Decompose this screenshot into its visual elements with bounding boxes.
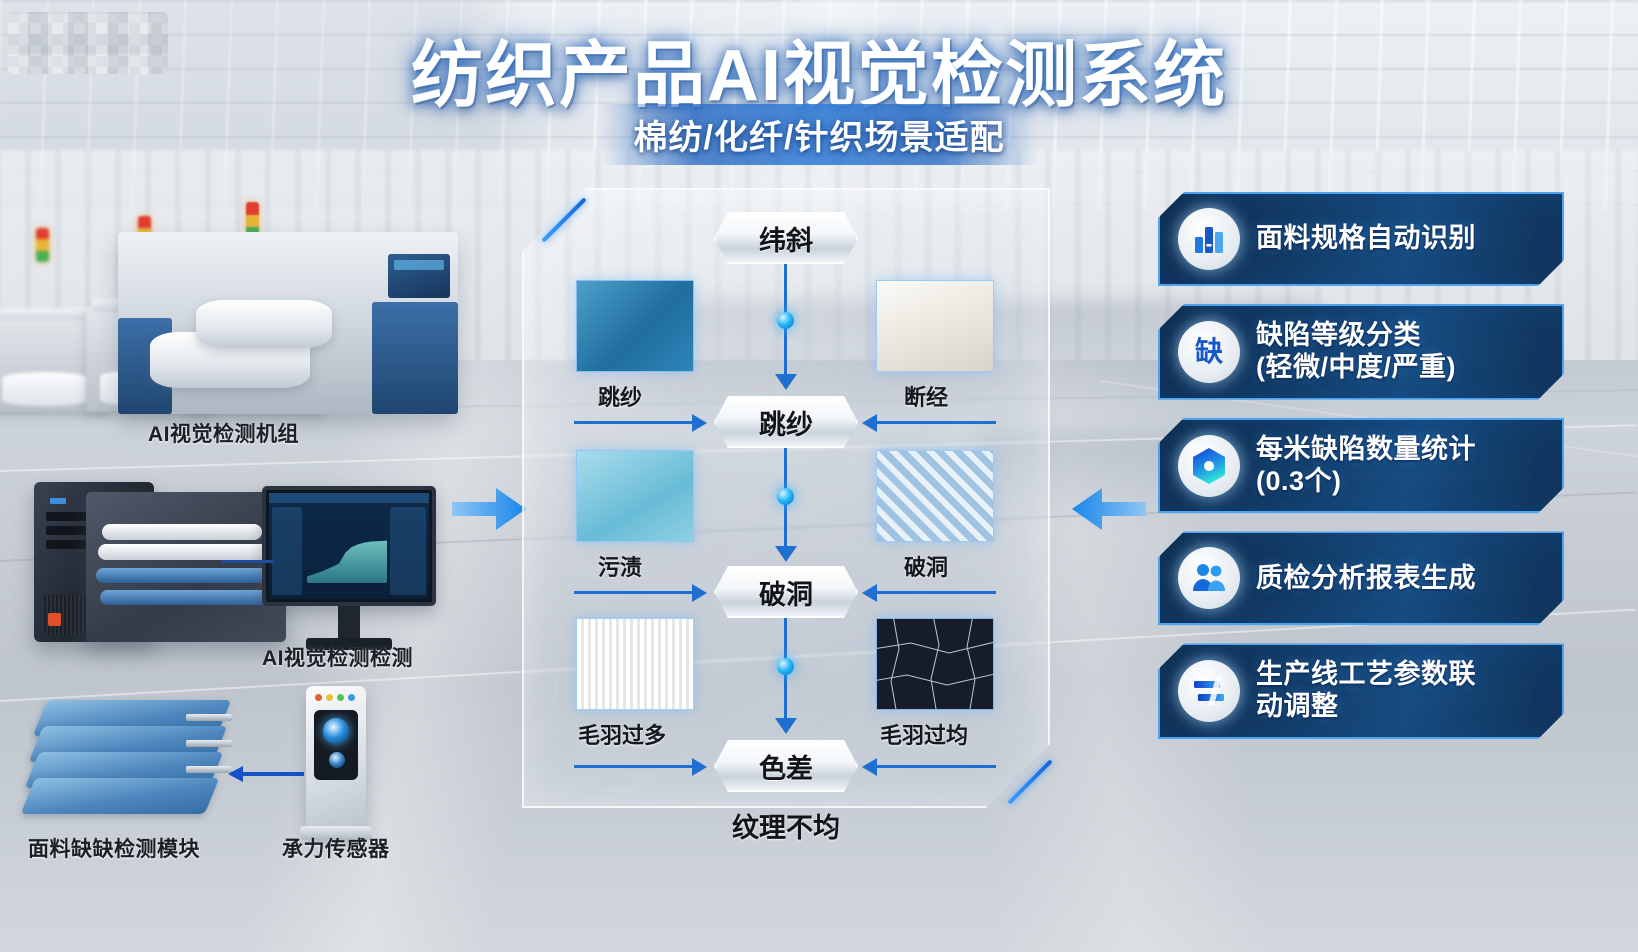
connector-arrow: [862, 758, 877, 776]
swatch-excess-hairiness: [576, 618, 694, 710]
connector-arrow: [775, 374, 797, 390]
connector-line: [574, 421, 696, 424]
roller-assembly: [96, 518, 286, 610]
blurred-logo: [8, 12, 168, 74]
feature-line-1: 缺陷等级分类: [1256, 320, 1456, 352]
defect-char-icon: 缺: [1178, 321, 1240, 383]
swatch-label-broken-warp: 断经: [904, 380, 948, 412]
hexagon-node-icon: [1178, 435, 1240, 497]
connector-line: [574, 591, 696, 594]
connector-line: [876, 591, 996, 594]
connector-arrow: [692, 414, 707, 432]
sensor-to-fabric-arrow: [242, 772, 304, 776]
connector-arrow: [692, 584, 707, 602]
feature-line-2: (轻微/中度/严重): [1256, 352, 1456, 384]
feature-card-defect-count[interactable]: 每米缺陷数量统计 (0.3个): [1158, 418, 1564, 514]
flow-arrow-left: [1072, 486, 1146, 532]
feature-card-text: 面料规格自动识别: [1256, 223, 1476, 255]
feature-card-text: 每米缺陷数量统计 (0.3个): [1256, 434, 1476, 498]
swatch-label-excess-hairiness: 毛羽过多: [578, 718, 666, 750]
connector-arrow: [775, 718, 797, 734]
feature-card-report[interactable]: 质检分析报表生成: [1158, 531, 1564, 625]
load-sensor-device: [306, 686, 366, 836]
connector-line: [876, 765, 996, 768]
swatch-label-skip-yarn: 跳纱: [598, 380, 642, 412]
swatch-label-stain: 污渍: [598, 550, 642, 582]
swatch-hole: [876, 450, 994, 542]
connector-arrow: [862, 414, 877, 432]
flow-arrow-right: [452, 486, 526, 532]
flow-node-hole[interactable]: 破洞: [714, 566, 858, 618]
defect-flow-diagram: 纬斜 跳纱 破洞 色差 跳纱 污渍 毛羽过多: [522, 188, 1050, 848]
connector-line: [574, 765, 696, 768]
connector-node-dot: [777, 658, 794, 675]
monitor-screen: [262, 486, 436, 606]
connection-wire: [222, 560, 274, 563]
flow-node-skip-yarn[interactable]: 跳纱: [714, 396, 858, 448]
defect-char-glyph: 缺: [1195, 338, 1223, 366]
poster-stage: AI视觉检测机组 AI视觉检测检测: [0, 0, 1638, 952]
feature-card-defect-grade[interactable]: 缺 缺陷等级分类 (轻微/中度/严重): [1158, 304, 1564, 400]
feature-card-fabric-spec[interactable]: 面料规格自动识别: [1158, 192, 1564, 286]
loom-hmi-panel: [388, 254, 450, 298]
feature-card-list: 面料规格自动识别 缺 缺陷等级分类 (轻微/中度/严重): [1158, 192, 1564, 757]
flow-adjust-icon: [1178, 660, 1240, 722]
swatch-uniform-hairiness: [876, 618, 994, 710]
swatch-broken-warp: [876, 280, 994, 372]
feature-card-process-link[interactable]: 生产线工艺参数联 动调整: [1158, 643, 1564, 739]
people-icon: [1178, 547, 1240, 609]
flow-node-color-diff[interactable]: 色差: [714, 740, 858, 792]
swatch-label-uniform-hairiness: 毛羽过均: [880, 718, 968, 750]
connector-line: [876, 421, 996, 424]
feature-line-1: 质检分析报表生成: [1256, 563, 1476, 593]
feature-line-1: 每米缺陷数量统计: [1256, 434, 1476, 466]
connector-node-dot: [777, 312, 794, 329]
connector-arrow: [862, 584, 877, 602]
label-inspection-station: AI视觉检测检测: [262, 642, 413, 672]
label-fabric-module: 面料缺缺检测模块: [28, 833, 200, 863]
label-loom-unit: AI视觉检测机组: [148, 418, 299, 448]
feature-line-2: (0.3个): [1256, 466, 1476, 498]
feature-line-2: 动调整: [1256, 691, 1476, 723]
connector-node-dot: [777, 488, 794, 505]
connector-arrow: [775, 546, 797, 562]
swatch-skip-yarn: [576, 280, 694, 372]
cloth-roll: [196, 300, 332, 348]
swatch-stain: [576, 450, 694, 542]
operator-monitor: [262, 486, 436, 656]
swatch-label-hole: 破洞: [904, 550, 948, 582]
feature-line-1: 面料规格自动识别: [1256, 223, 1476, 253]
feature-line-1: 生产线工艺参数联: [1256, 659, 1476, 691]
bar-chart-icon: [1178, 208, 1240, 270]
feature-card-text: 缺陷等级分类 (轻微/中度/严重): [1256, 320, 1456, 384]
flow-node-weft-skew[interactable]: 纬斜: [714, 212, 858, 264]
feature-card-text: 质检分析报表生成: [1256, 563, 1476, 595]
fabric-stack: [30, 700, 230, 820]
label-load-sensor: 承力传感器: [282, 833, 390, 863]
hairiness-pattern-icon: [877, 619, 994, 710]
flow-bottom-label: 纹理不均: [522, 806, 1050, 845]
connector-arrow: [692, 758, 707, 776]
feature-card-text: 生产线工艺参数联 动调整: [1256, 659, 1476, 723]
